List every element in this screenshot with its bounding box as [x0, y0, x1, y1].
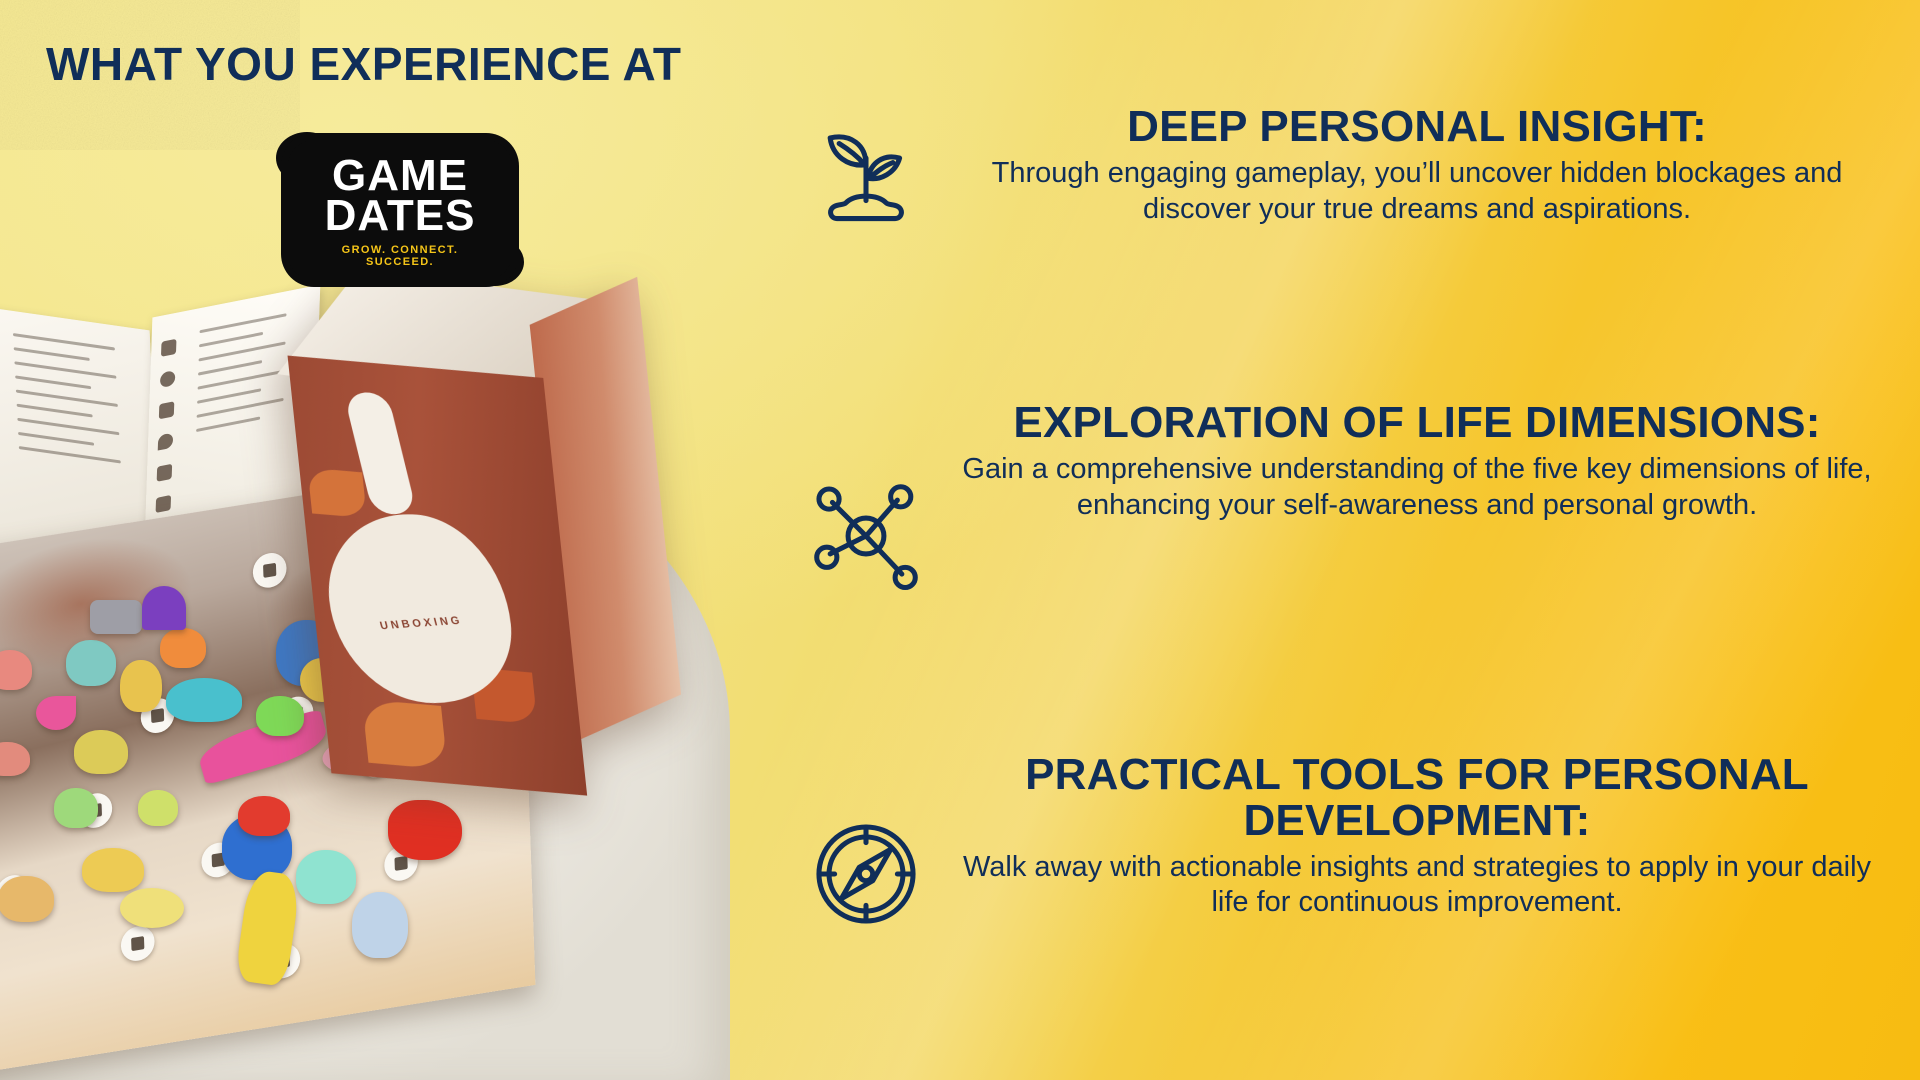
feature-item-practical-tools-for-personal-development: PRACTICAL TOOLS FOR PERSONAL DEVELOPMENT…: [800, 752, 1890, 940]
booklet-symbol-column: [0, 331, 7, 522]
product-photo: UNBOXING: [0, 300, 770, 1080]
feature-body: EXPLORATION OF LIFE DIMENSIONS: Gain a c…: [958, 400, 1890, 524]
logo-word-game: GAME: [314, 156, 486, 196]
feature-body: PRACTICAL TOOLS FOR PERSONAL DEVELOPMENT…: [958, 752, 1890, 921]
feature-item-deep-personal-insight: DEEP PERSONAL INSIGHT: Through engaging …: [800, 104, 1890, 242]
box-leaf-graphic: [307, 468, 367, 519]
logo-badge: GAME DATES GROW. CONNECT. SUCCEED.: [288, 140, 512, 280]
product-gift-box: UNBOXING: [286, 302, 694, 817]
feature-description: Through engaging gameplay, you’ll uncove…: [958, 156, 1876, 228]
poster-canvas: WHAT YOU EXPERIENCE AT GAME DATES GROW. …: [0, 0, 1920, 1080]
compass-icon: [800, 808, 932, 940]
booklet-symbol-column-right: [155, 337, 187, 529]
box-label-badge: UNBOXING: [319, 506, 520, 711]
box-leaf-graphic: [362, 699, 448, 770]
logo-tagline: GROW. CONNECT. SUCCEED.: [314, 244, 486, 268]
brand-logo: GAME DATES GROW. CONNECT. SUCCEED.: [288, 140, 512, 280]
box-label-text: UNBOXING: [379, 615, 464, 633]
feature-body: DEEP PERSONAL INSIGHT: Through engaging …: [958, 104, 1890, 228]
feature-item-exploration-of-life-dimensions: EXPLORATION OF LIFE DIMENSIONS: Gain a c…: [800, 400, 1890, 602]
feature-list: DEEP PERSONAL INSIGHT: Through engaging …: [800, 0, 1920, 1080]
box-front-face: UNBOXING: [288, 356, 588, 796]
network-nodes-icon: [800, 470, 932, 602]
feature-description: Gain a comprehensive understanding of th…: [958, 452, 1876, 524]
feature-title: EXPLORATION OF LIFE DIMENSIONS:: [958, 400, 1876, 446]
feature-title: PRACTICAL TOOLS FOR PERSONAL DEVELOPMENT…: [958, 752, 1876, 844]
logo-word-dates: DATES: [314, 196, 486, 236]
booklet-text-lines: [13, 333, 145, 548]
feature-description: Walk away with actionable insights and s…: [958, 850, 1876, 922]
feature-title: DEEP PERSONAL INSIGHT:: [958, 104, 1876, 150]
sprout-icon: [800, 110, 932, 242]
page-headline: WHAT YOU EXPERIENCE AT: [46, 40, 681, 88]
